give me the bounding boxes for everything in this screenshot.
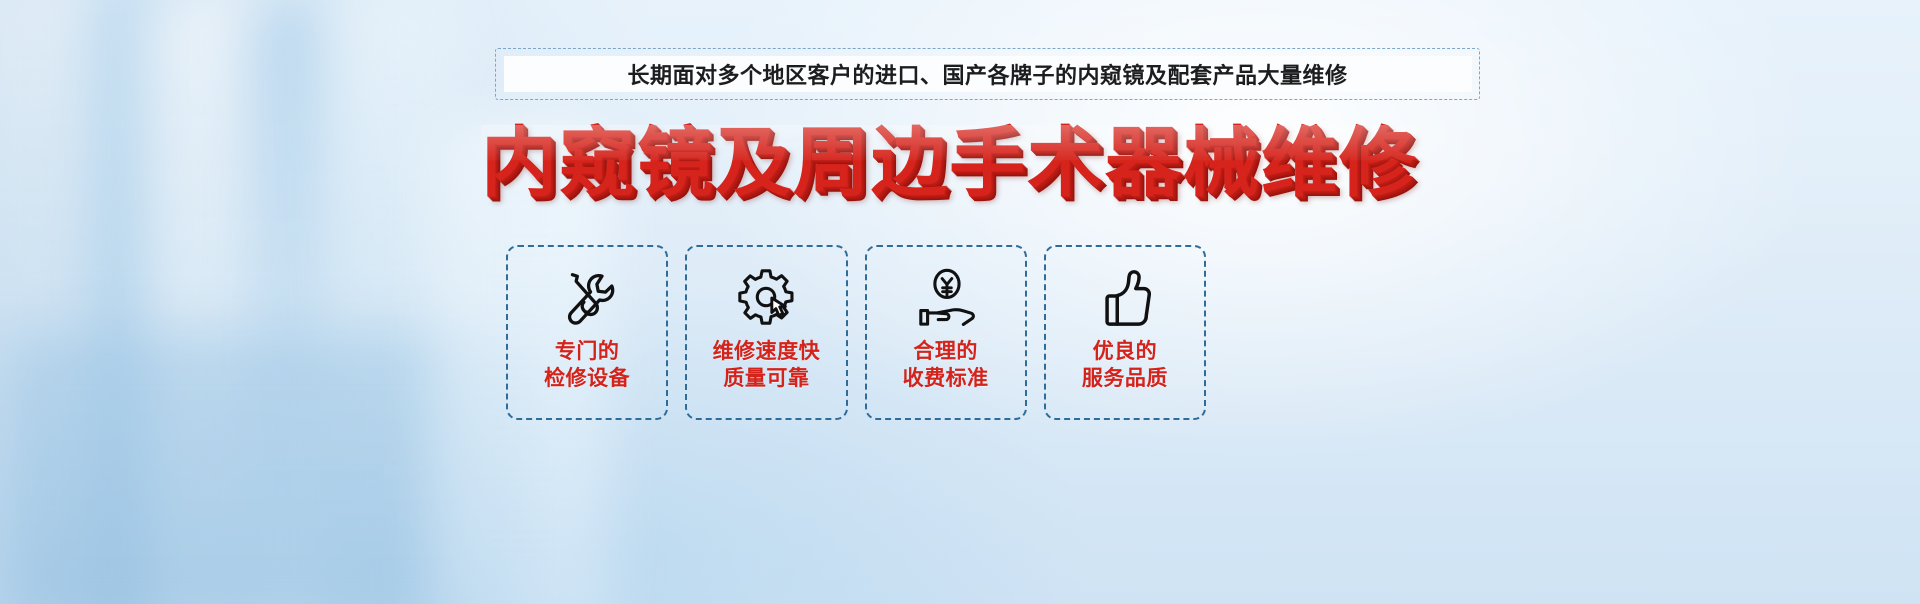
feature-caption-line2: 检修设备 — [544, 365, 630, 392]
feature-caption-line1: 专门的 — [544, 338, 630, 365]
hand-yen-coin-icon — [913, 264, 979, 330]
feature-caption: 专门的 检修设备 — [544, 338, 630, 393]
feature-caption: 优良的 服务品质 — [1082, 338, 1168, 393]
headline-wrap: 内窥镜及周边手术器械维修 — [0, 118, 1920, 208]
feature-box-tools[interactable]: 专门的 检修设备 — [506, 245, 668, 420]
tools-icon — [554, 264, 620, 330]
feature-caption-line2: 收费标准 — [903, 365, 989, 392]
page-title: 内窥镜及周边手术器械维修 — [481, 125, 1417, 201]
feature-caption: 维修速度快 质量可靠 — [713, 338, 821, 393]
feature-caption-line1: 优良的 — [1082, 338, 1168, 365]
feature-caption: 合理的 收费标准 — [903, 338, 989, 393]
feature-box-price[interactable]: 合理的 收费标准 — [865, 245, 1027, 420]
tagline-banner-inner: 长期面对多个地区客户的进口、国产各牌子的内窥镜及配套产品大量维修 — [504, 56, 1472, 92]
feature-box-list: 专门的 检修设备 维修速度快 质量可靠 — [506, 245, 1206, 420]
feature-caption-line2: 服务品质 — [1082, 365, 1168, 392]
gear-cursor-icon — [733, 264, 799, 330]
banner-stage: 长期面对多个地区客户的进口、国产各牌子的内窥镜及配套产品大量维修 内窥镜及周边手… — [0, 0, 1920, 604]
tagline-text: 长期面对多个地区客户的进口、国产各牌子的内窥镜及配套产品大量维修 — [627, 58, 1347, 90]
thumbs-up-icon — [1092, 264, 1158, 330]
content-layer: 长期面对多个地区客户的进口、国产各牌子的内窥镜及配套产品大量维修 内窥镜及周边手… — [0, 0, 1920, 604]
feature-box-speed[interactable]: 维修速度快 质量可靠 — [685, 245, 847, 420]
tagline-banner: 长期面对多个地区客户的进口、国产各牌子的内窥镜及配套产品大量维修 — [495, 48, 1480, 100]
feature-caption-line2: 质量可靠 — [713, 365, 821, 392]
feature-box-quality[interactable]: 优良的 服务品质 — [1044, 245, 1206, 420]
feature-caption-line1: 合理的 — [903, 338, 989, 365]
feature-caption-line1: 维修速度快 — [713, 338, 821, 365]
